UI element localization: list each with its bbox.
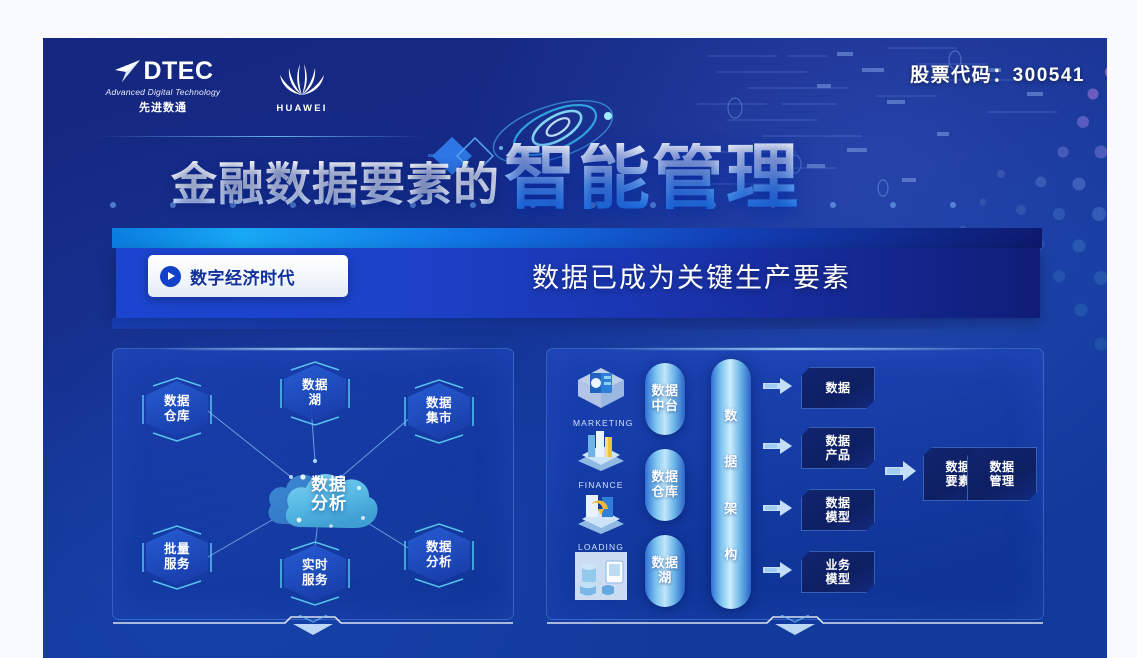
output-data-product[interactable]: 数据 产品 — [801, 427, 875, 469]
output-label-line2: 产品 — [825, 448, 850, 462]
node-label-line1: 实时 — [302, 558, 328, 573]
platform-data-midend[interactable]: 数据 中台 — [645, 363, 685, 435]
node-label-line1: 数据 — [426, 396, 452, 411]
pill-label-line1: 数据 — [651, 470, 678, 485]
pill-label-line2: 仓库 — [651, 485, 678, 500]
output-label-line1: 数据 — [825, 434, 850, 448]
output-label-line1: 数据 — [825, 496, 850, 510]
section-badge[interactable]: 数字经济时代 — [148, 255, 348, 297]
converge-arrow-icon — [885, 459, 917, 483]
output-label-line2: 模型 — [825, 572, 850, 586]
loading-box-icon — [574, 489, 628, 535]
node-label-line2: 仓库 — [164, 409, 190, 424]
panel-top-glow — [597, 348, 994, 350]
final-label-line2: 管理 — [989, 474, 1014, 488]
finance-chart-icon — [574, 427, 628, 473]
final-label-line1: 数据 — [989, 460, 1014, 474]
flow-arrow-icon — [763, 499, 793, 517]
flow-arrow-icon — [763, 377, 793, 395]
slide-canvas: DTEC Advanced Digital Technology 先进数通 — [43, 38, 1107, 658]
cloud-label: 数据 分析 — [263, 454, 381, 534]
dtec-wordmark: DTEC — [143, 59, 213, 84]
node-label-line1: 数据 — [164, 394, 190, 409]
node-label-line2: 分析 — [426, 555, 452, 570]
source-loading[interactable]: LOADING — [573, 489, 629, 552]
node-label-line1: 批量 — [164, 542, 190, 557]
arch-char-4: 构 — [724, 544, 738, 563]
data-architecture-column[interactable]: 数 据 架 构 — [711, 359, 751, 609]
arch-char-3: 架 — [724, 498, 738, 517]
slide-page: DTEC Advanced Digital Technology 先进数通 — [0, 0, 1137, 650]
huawei-logo: HUAWEI — [263, 58, 341, 114]
logo-group: DTEC Advanced Digital Technology 先进数通 — [93, 58, 341, 115]
pill-label-line2: 湖 — [658, 571, 672, 586]
node-label-line2: 服务 — [164, 557, 190, 572]
huawei-wordmark: HUAWEI — [263, 103, 341, 114]
play-icon — [160, 266, 181, 287]
platform-data-warehouse[interactable]: 数据 仓库 — [645, 449, 685, 521]
banner-bottom-shade — [112, 318, 1020, 329]
dtec-chinese-name: 先进数通 — [93, 99, 233, 115]
page-title-prefix: 金融数据要素的 — [171, 161, 500, 211]
stock-code-label: 股票代码：300541 — [910, 60, 1085, 87]
dtec-logo: DTEC Advanced Digital Technology 先进数通 — [93, 58, 233, 115]
output-label-line1: 数据 — [825, 381, 850, 395]
cloud-label-line1: 数据 — [311, 475, 347, 494]
pill-label-line1: 数据 — [651, 384, 678, 399]
data-devices-icon — [574, 551, 628, 601]
output-label-line1: 业务 — [825, 558, 850, 572]
arch-char-2: 据 — [724, 451, 738, 470]
flow-arrow-icon — [763, 437, 793, 455]
pill-label-line1: 数据 — [651, 556, 678, 571]
final-data-management[interactable]: 数据 管理 — [967, 447, 1037, 501]
output-business-model[interactable]: 业务 模型 — [801, 551, 875, 593]
section-banner: 数字经济时代 数据已成为关键生产要素 — [112, 228, 1042, 336]
dtec-tagline: Advanced Digital Technology — [93, 87, 233, 97]
section-badge-label: 数字经济时代 — [190, 264, 295, 289]
node-label-line2: 集市 — [426, 411, 452, 426]
page-title: 金融数据要素的 智能管理 — [171, 143, 800, 211]
page-title-highlight: 智能管理 — [504, 143, 800, 211]
output-label-line2: 模型 — [825, 510, 850, 524]
right-flow-panel: MARKETING FINANCE — [546, 348, 1044, 620]
source-finance[interactable]: FINANCE — [573, 427, 629, 490]
center-cloud[interactable]: 数据 分析 — [263, 454, 381, 534]
source-marketing[interactable]: MARKETING — [573, 365, 629, 428]
result-label-line1: 数据 — [945, 460, 970, 474]
node-label-line1: 数据 — [302, 378, 328, 393]
cloud-label-line2: 分析 — [311, 494, 347, 513]
node-label-line2: 湖 — [308, 393, 321, 408]
flow-arrow-icon — [763, 561, 793, 579]
source-extra[interactable] — [573, 551, 629, 608]
banner-top-strip — [112, 228, 1042, 248]
output-data[interactable]: 数据 — [801, 367, 875, 409]
result-label-line2: 要素 — [945, 474, 970, 488]
dot-sphere-decoration — [897, 56, 1107, 386]
dtec-arrow-icon — [112, 58, 142, 84]
panel-bottom-chevron — [547, 615, 1043, 641]
node-label-line2: 服务 — [302, 573, 328, 588]
left-diagram-panel: 数据 仓库 数据 湖 — [112, 348, 514, 620]
pill-label-line2: 中台 — [651, 399, 678, 414]
arch-char-1: 数 — [724, 405, 738, 424]
huawei-flower-icon — [274, 62, 330, 96]
banner-headline: 数据已成为关键生产要素 — [532, 256, 851, 295]
output-data-model[interactable]: 数据 模型 — [801, 489, 875, 531]
marketing-cube-icon — [574, 365, 628, 411]
header-divider-line — [95, 136, 425, 137]
node-label-line1: 数据 — [426, 540, 452, 555]
platform-data-lake[interactable]: 数据 湖 — [645, 535, 685, 607]
